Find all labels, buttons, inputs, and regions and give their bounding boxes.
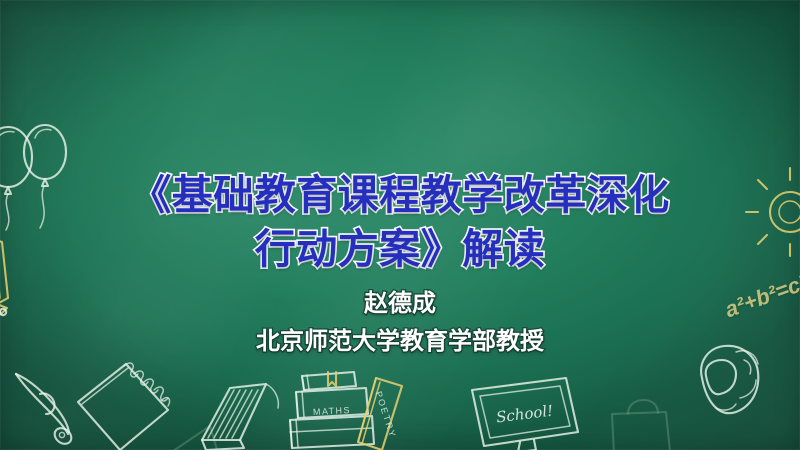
book-label-maths: MATHS bbox=[313, 405, 351, 417]
title-slide: School! MATHS POETRY a²+b²=c² 《基础教育课程教学改… bbox=[0, 0, 800, 450]
speaker-name: 赵德成 bbox=[0, 287, 800, 321]
page-title: 《基础教育课程教学改革深化 行动方案》解读 bbox=[0, 168, 800, 276]
speaker-affiliation: 北京师范大学教育学部教授 bbox=[0, 325, 800, 359]
